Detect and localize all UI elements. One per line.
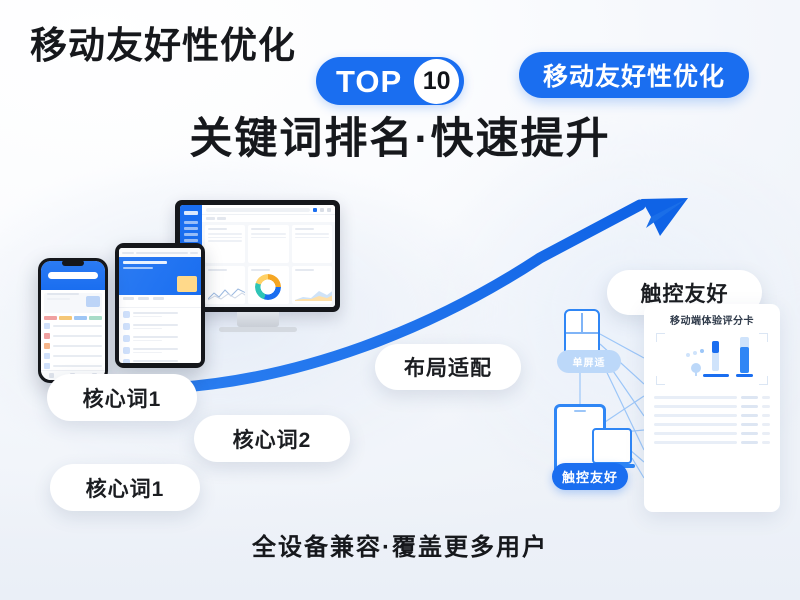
device-mockup-group: [20, 190, 350, 390]
score-row: [654, 429, 770, 438]
score-row: [654, 402, 770, 411]
list-item-icon: [123, 359, 130, 363]
keyword-pill-1: 核心词1: [47, 374, 197, 421]
score-row-label: [654, 441, 737, 444]
list-item-icon: [44, 343, 50, 349]
score-row-value: [741, 405, 758, 408]
hero-title-bar: [123, 261, 167, 264]
dashboard-action-dot: [313, 208, 317, 212]
card-title-bar: [47, 293, 79, 295]
card-line: [208, 240, 242, 242]
score-row-label: [654, 405, 737, 408]
card-line: [251, 237, 285, 239]
list-item-icon: [44, 333, 50, 339]
list-item-icon: [123, 323, 130, 330]
dashboard-card: [205, 225, 245, 263]
kicker-title: 移动友好性优化: [30, 27, 296, 64]
keyword-pill-2: 核心词2: [194, 415, 350, 462]
list-item-icon: [123, 335, 130, 342]
tag-pill-mobile-friendly: 移动友好性优化: [519, 52, 749, 98]
panel-chip-single-screen: 单屏适: [557, 350, 621, 373]
chart-corner-bracket: [656, 333, 665, 342]
score-row-delta: [762, 414, 770, 417]
score-row-value: [741, 414, 758, 417]
list-item: [123, 323, 197, 330]
card-title-bar: [295, 269, 314, 271]
list-item-icon: [123, 311, 130, 318]
score-row-value: [741, 432, 758, 435]
category-chip: [89, 316, 102, 320]
card-title-bar: [208, 269, 227, 271]
card-line: [295, 237, 329, 239]
score-row-label: [654, 423, 737, 426]
dashboard-action-dot: [327, 208, 331, 212]
score-row-delta: [762, 396, 770, 399]
dashboard-menu-item: [184, 233, 198, 236]
monitor-base: [219, 327, 297, 332]
footer-caption: 全设备兼容·覆盖更多用户: [0, 527, 800, 562]
top-rank-badge: TOP 10: [316, 57, 464, 105]
analytics-panel: 单屏适 触控友好 移动端体验评分卡: [548, 300, 788, 515]
tablet-status-item: [136, 252, 188, 254]
donut-chart: [255, 274, 281, 300]
list-item: [44, 353, 102, 359]
list-item-text: [133, 336, 197, 342]
tablet-tab: [153, 297, 164, 300]
score-card-chart: [656, 333, 768, 385]
score-row-delta: [762, 432, 770, 435]
card-title-bar: [208, 228, 227, 230]
list-item: [123, 347, 197, 354]
tablet-list: [119, 308, 201, 363]
score-row-value: [741, 423, 758, 426]
card-title-bar: [295, 228, 314, 230]
card-line: [208, 233, 242, 235]
category-chip: [44, 316, 57, 320]
score-row: [654, 411, 770, 420]
list-item: [123, 335, 197, 342]
chart-corner-bracket: [656, 376, 665, 385]
phone-search-bar: [48, 272, 98, 279]
tablet-mockup: [115, 243, 205, 368]
list-item-icon: [44, 363, 50, 369]
card-line: [208, 237, 242, 239]
score-card-title: 移动端体验评分卡: [654, 312, 770, 327]
tablet-tab: [123, 297, 134, 300]
score-row: [654, 420, 770, 429]
top-badge-number: 10: [414, 59, 459, 104]
phone-screen: [41, 261, 105, 380]
list-item-text: [133, 324, 197, 330]
list-item-icon: [123, 347, 130, 354]
top-badge-word: TOP: [316, 66, 414, 97]
mini-laptop-icon: [592, 428, 632, 464]
callout-layout-adaptation: 布局适配: [375, 344, 521, 390]
dashboard-area-chart-card: [292, 266, 332, 304]
card-title-bar: [251, 269, 270, 271]
card-title-bar: [251, 228, 270, 230]
chart-corner-bracket: [759, 333, 768, 342]
mobile-score-card: 移动端体验评分卡: [644, 304, 780, 512]
list-item-text: [53, 335, 102, 337]
score-card-rows: [654, 393, 770, 447]
phone-speaker: [574, 410, 586, 412]
dashboard-donut-card: [248, 266, 288, 304]
dashboard-card: [292, 225, 332, 263]
dashboard-card: [248, 225, 288, 263]
card-sub-bar: [47, 298, 70, 300]
bar-chart-illustration: [656, 333, 772, 385]
dashboard-filter-chip: [217, 217, 226, 220]
list-item-text: [53, 355, 102, 357]
dashboard-line-chart-card: [205, 266, 245, 304]
dashboard-filter-row: [202, 214, 335, 222]
hero-sub-bar: [123, 267, 153, 269]
dashboard-menu-item: [184, 239, 198, 242]
tablet-hero-banner: [119, 257, 201, 295]
list-item-text: [133, 312, 197, 318]
phone-mockup: [38, 258, 108, 383]
score-row-delta: [762, 405, 770, 408]
list-item: [44, 363, 102, 369]
score-row-label: [654, 432, 737, 435]
card-line: [295, 233, 329, 235]
hero-badge: [177, 276, 197, 292]
dashboard-search-bar: [206, 208, 310, 212]
score-row-value: [741, 441, 758, 444]
tablet-status-bar: [119, 248, 201, 257]
dashboard-content: [202, 205, 335, 307]
panel-chip-touch-friendly: 触控友好: [552, 463, 628, 490]
tablet-status-item: [122, 252, 134, 254]
monitor-stand: [237, 312, 279, 327]
dashboard-filter-chip: [206, 217, 215, 220]
list-item-icon: [44, 323, 50, 329]
tab-bar-icon: [49, 373, 54, 378]
tablet-tab-bar: [119, 295, 201, 308]
list-item-icon: [44, 353, 50, 359]
keyword-pill-3: 核心词1: [50, 464, 200, 511]
area-chart: [295, 287, 332, 301]
phone-notch: [62, 260, 84, 266]
tablet-screen: [119, 248, 201, 363]
score-row: [654, 393, 770, 402]
list-item: [44, 323, 102, 329]
score-row: [654, 438, 770, 447]
chart-corner-bracket: [759, 376, 768, 385]
page-title: 关键词排名·快速提升: [0, 118, 800, 161]
tablet-status-item: [190, 252, 198, 254]
score-row-value: [741, 396, 758, 399]
score-row-delta: [762, 441, 770, 444]
dashboard-action-dot: [320, 208, 324, 212]
list-item-text: [53, 325, 102, 327]
score-row-label: [654, 414, 737, 417]
list-item-text: [53, 365, 102, 367]
phone-feature-card: [44, 293, 102, 313]
score-row-label: [654, 396, 737, 399]
list-item: [44, 343, 102, 349]
list-item-text: [133, 360, 197, 363]
category-chip: [74, 316, 87, 320]
category-chip: [59, 316, 72, 320]
dashboard-toolbar: [202, 205, 335, 214]
sparkline-chart: [208, 287, 245, 301]
list-item-text: [133, 348, 197, 354]
card-line: [251, 233, 285, 235]
poster-canvas: 移动友好性优化 TOP 10 移动友好性优化 关键词排名·快速提升: [0, 0, 800, 600]
dashboard-logo: [184, 211, 198, 215]
phone-divider: [581, 313, 583, 332]
phone-divider: [566, 332, 598, 334]
list-item: [44, 333, 102, 339]
card-thumbnail: [86, 296, 100, 307]
list-item: [123, 311, 197, 318]
dashboard-menu-item: [184, 221, 198, 224]
dashboard-menu-item: [184, 227, 198, 230]
dashboard-card-grid: [202, 222, 335, 307]
tablet-tab: [138, 297, 149, 300]
score-row-delta: [762, 423, 770, 426]
list-item-text: [53, 345, 102, 347]
list-item: [123, 359, 197, 363]
